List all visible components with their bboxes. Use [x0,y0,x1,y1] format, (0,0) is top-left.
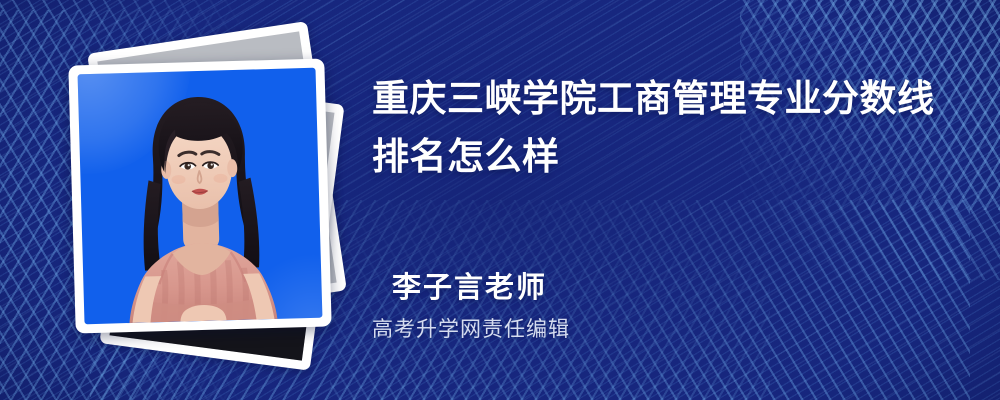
headline-line-2: 排名怎么样 [372,128,972,186]
author-photo-stack [72,48,338,348]
article-header-banner: 重庆三峡学院工商管理专业分数线 排名怎么样 李子言老师 高考升学网责任编辑 [0,0,1000,400]
author-photo [78,68,323,325]
author-photo-card [68,58,331,333]
headline-line-1: 重庆三峡学院工商管理专业分数线 [372,70,972,128]
author-name: 李子言老师 [392,268,570,308]
author-role: 高考升学网责任编辑 [372,314,570,346]
byline-block: 李子言老师 高考升学网责任编辑 [392,268,570,346]
portrait-illustration [94,80,307,324]
headline-block: 重庆三峡学院工商管理专业分数线 排名怎么样 [372,70,972,186]
